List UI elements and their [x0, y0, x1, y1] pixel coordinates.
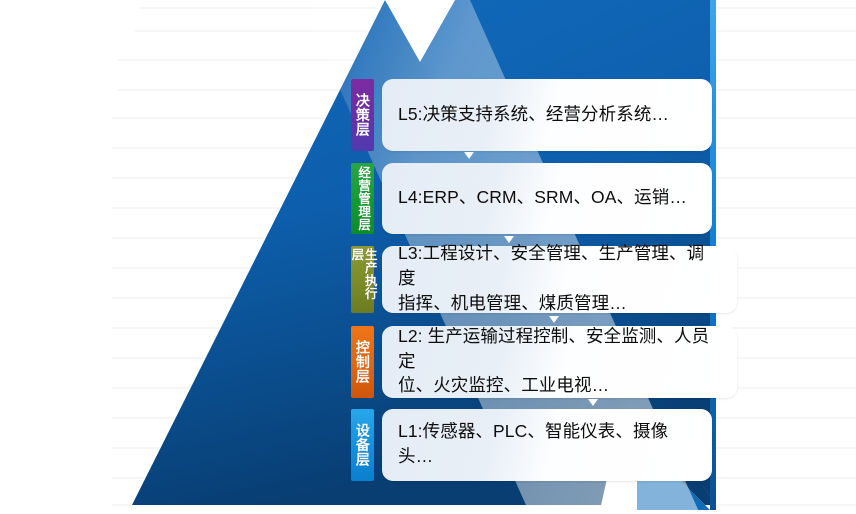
layer-tab-l5[interactable]: 决策层 — [351, 79, 374, 151]
layer-text-l3: L3:工程设计、安全管理、生产管理、调度 指挥、机电管理、煤质管理… — [398, 241, 721, 316]
flow-arrow-1 — [464, 152, 474, 159]
layer-text-l2: L2: 生产运输过程控制、安全监测、人员定 位、火灾监控、工业电视… — [398, 324, 721, 399]
layer-tab-label-l4: 经营管理层 — [356, 166, 369, 231]
flow-arrow-4 — [588, 399, 598, 406]
diagram-canvas: 决策层 L5:决策支持系统、经营分析系统… 经营管理层 L4:ERP、CRM、S… — [0, 0, 856, 514]
layer-card-l3[interactable]: L3:工程设计、安全管理、生产管理、调度 指挥、机电管理、煤质管理… — [382, 246, 737, 313]
layer-row-l2[interactable]: 控制层 L2: 生产运输过程控制、安全监测、人员定 位、火灾监控、工业电视… — [351, 326, 737, 398]
layer-tab-l1[interactable]: 设备层 — [351, 409, 374, 481]
layer-tab-label-l1: 设备层 — [355, 423, 370, 467]
layer-tab-label-l5: 决策层 — [355, 93, 370, 137]
layer-card-l1[interactable]: L1:传感器、PLC、智能仪表、摄像头… — [382, 409, 712, 481]
layer-card-l4[interactable]: L4:ERP、CRM、SRM、OA、运销… — [382, 163, 712, 234]
layer-tab-l2[interactable]: 控制层 — [351, 326, 374, 398]
layer-rows: 决策层 L5:决策支持系统、经营分析系统… 经营管理层 L4:ERP、CRM、S… — [0, 0, 856, 514]
layer-tab-label-l2: 控制层 — [355, 340, 370, 384]
layer-row-l4[interactable]: 经营管理层 L4:ERP、CRM、SRM、OA、运销… — [351, 163, 712, 234]
layer-tab-l3[interactable]: 生产执行层 — [351, 246, 374, 313]
layer-text-l4: L4:ERP、CRM、SRM、OA、运销… — [398, 185, 687, 210]
layer-tab-l4[interactable]: 经营管理层 — [351, 163, 374, 234]
layer-card-l5[interactable]: L5:决策支持系统、经营分析系统… — [382, 79, 712, 151]
flow-arrow-3 — [549, 316, 559, 323]
layer-row-l1[interactable]: 设备层 L1:传感器、PLC、智能仪表、摄像头… — [351, 409, 712, 481]
layer-text-l1: L1:传感器、PLC、智能仪表、摄像头… — [398, 419, 696, 469]
layer-tab-label-l3: 生产执行层 — [349, 248, 376, 311]
layer-text-l5: L5:决策支持系统、经营分析系统… — [398, 102, 669, 127]
layer-row-l3[interactable]: 生产执行层 L3:工程设计、安全管理、生产管理、调度 指挥、机电管理、煤质管理… — [351, 246, 737, 313]
layer-row-l5[interactable]: 决策层 L5:决策支持系统、经营分析系统… — [351, 79, 712, 151]
layer-card-l2[interactable]: L2: 生产运输过程控制、安全监测、人员定 位、火灾监控、工业电视… — [382, 326, 737, 398]
